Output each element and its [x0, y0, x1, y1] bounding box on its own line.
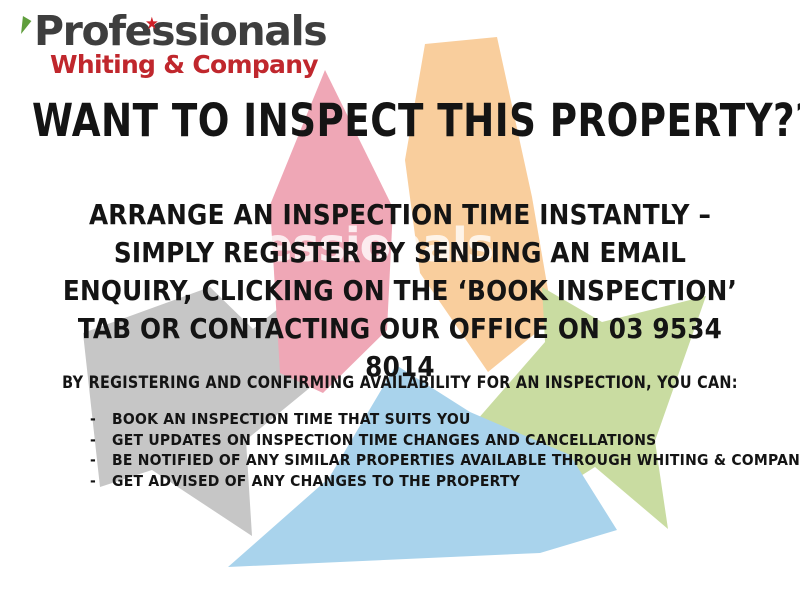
benefits-intro: BY REGISTERING AND CONFIRMING AVAILABILI…	[12, 373, 788, 393]
flyer-content: WANT TO INSPECT THIS PROPERTY?? ARRANGE …	[0, 0, 800, 600]
list-item-label: BE NOTIFIED OF ANY SIMILAR PROPERTIES AV…	[112, 450, 800, 471]
page-title: WANT TO INSPECT THIS PROPERTY??	[32, 96, 768, 146]
list-item-label: GET UPDATES ON INSPECTION TIME CHANGES A…	[112, 430, 656, 451]
benefits-list: - BOOK AN INSPECTION TIME THAT SUITS YOU…	[90, 409, 750, 491]
bullet-marker: -	[90, 471, 112, 492]
flyer-canvas: Pr★fessionals Professionals ★ Whiting & …	[0, 0, 800, 600]
list-item-label: BOOK AN INSPECTION TIME THAT SUITS YOU	[112, 409, 471, 430]
list-item: - BE NOTIFIED OF ANY SIMILAR PROPERTIES …	[90, 450, 750, 471]
bullet-marker: -	[90, 409, 112, 430]
bullet-marker: -	[90, 430, 112, 451]
list-item: - GET ADVISED OF ANY CHANGES TO THE PROP…	[90, 471, 750, 492]
body-paragraph: ARRANGE AN INSPECTION TIME INSTANTLY – S…	[52, 196, 748, 386]
list-item: - BOOK AN INSPECTION TIME THAT SUITS YOU	[90, 409, 750, 430]
list-item-label: GET ADVISED OF ANY CHANGES TO THE PROPER…	[112, 471, 520, 492]
list-item: - GET UPDATES ON INSPECTION TIME CHANGES…	[90, 430, 750, 451]
bullet-marker: -	[90, 450, 112, 471]
